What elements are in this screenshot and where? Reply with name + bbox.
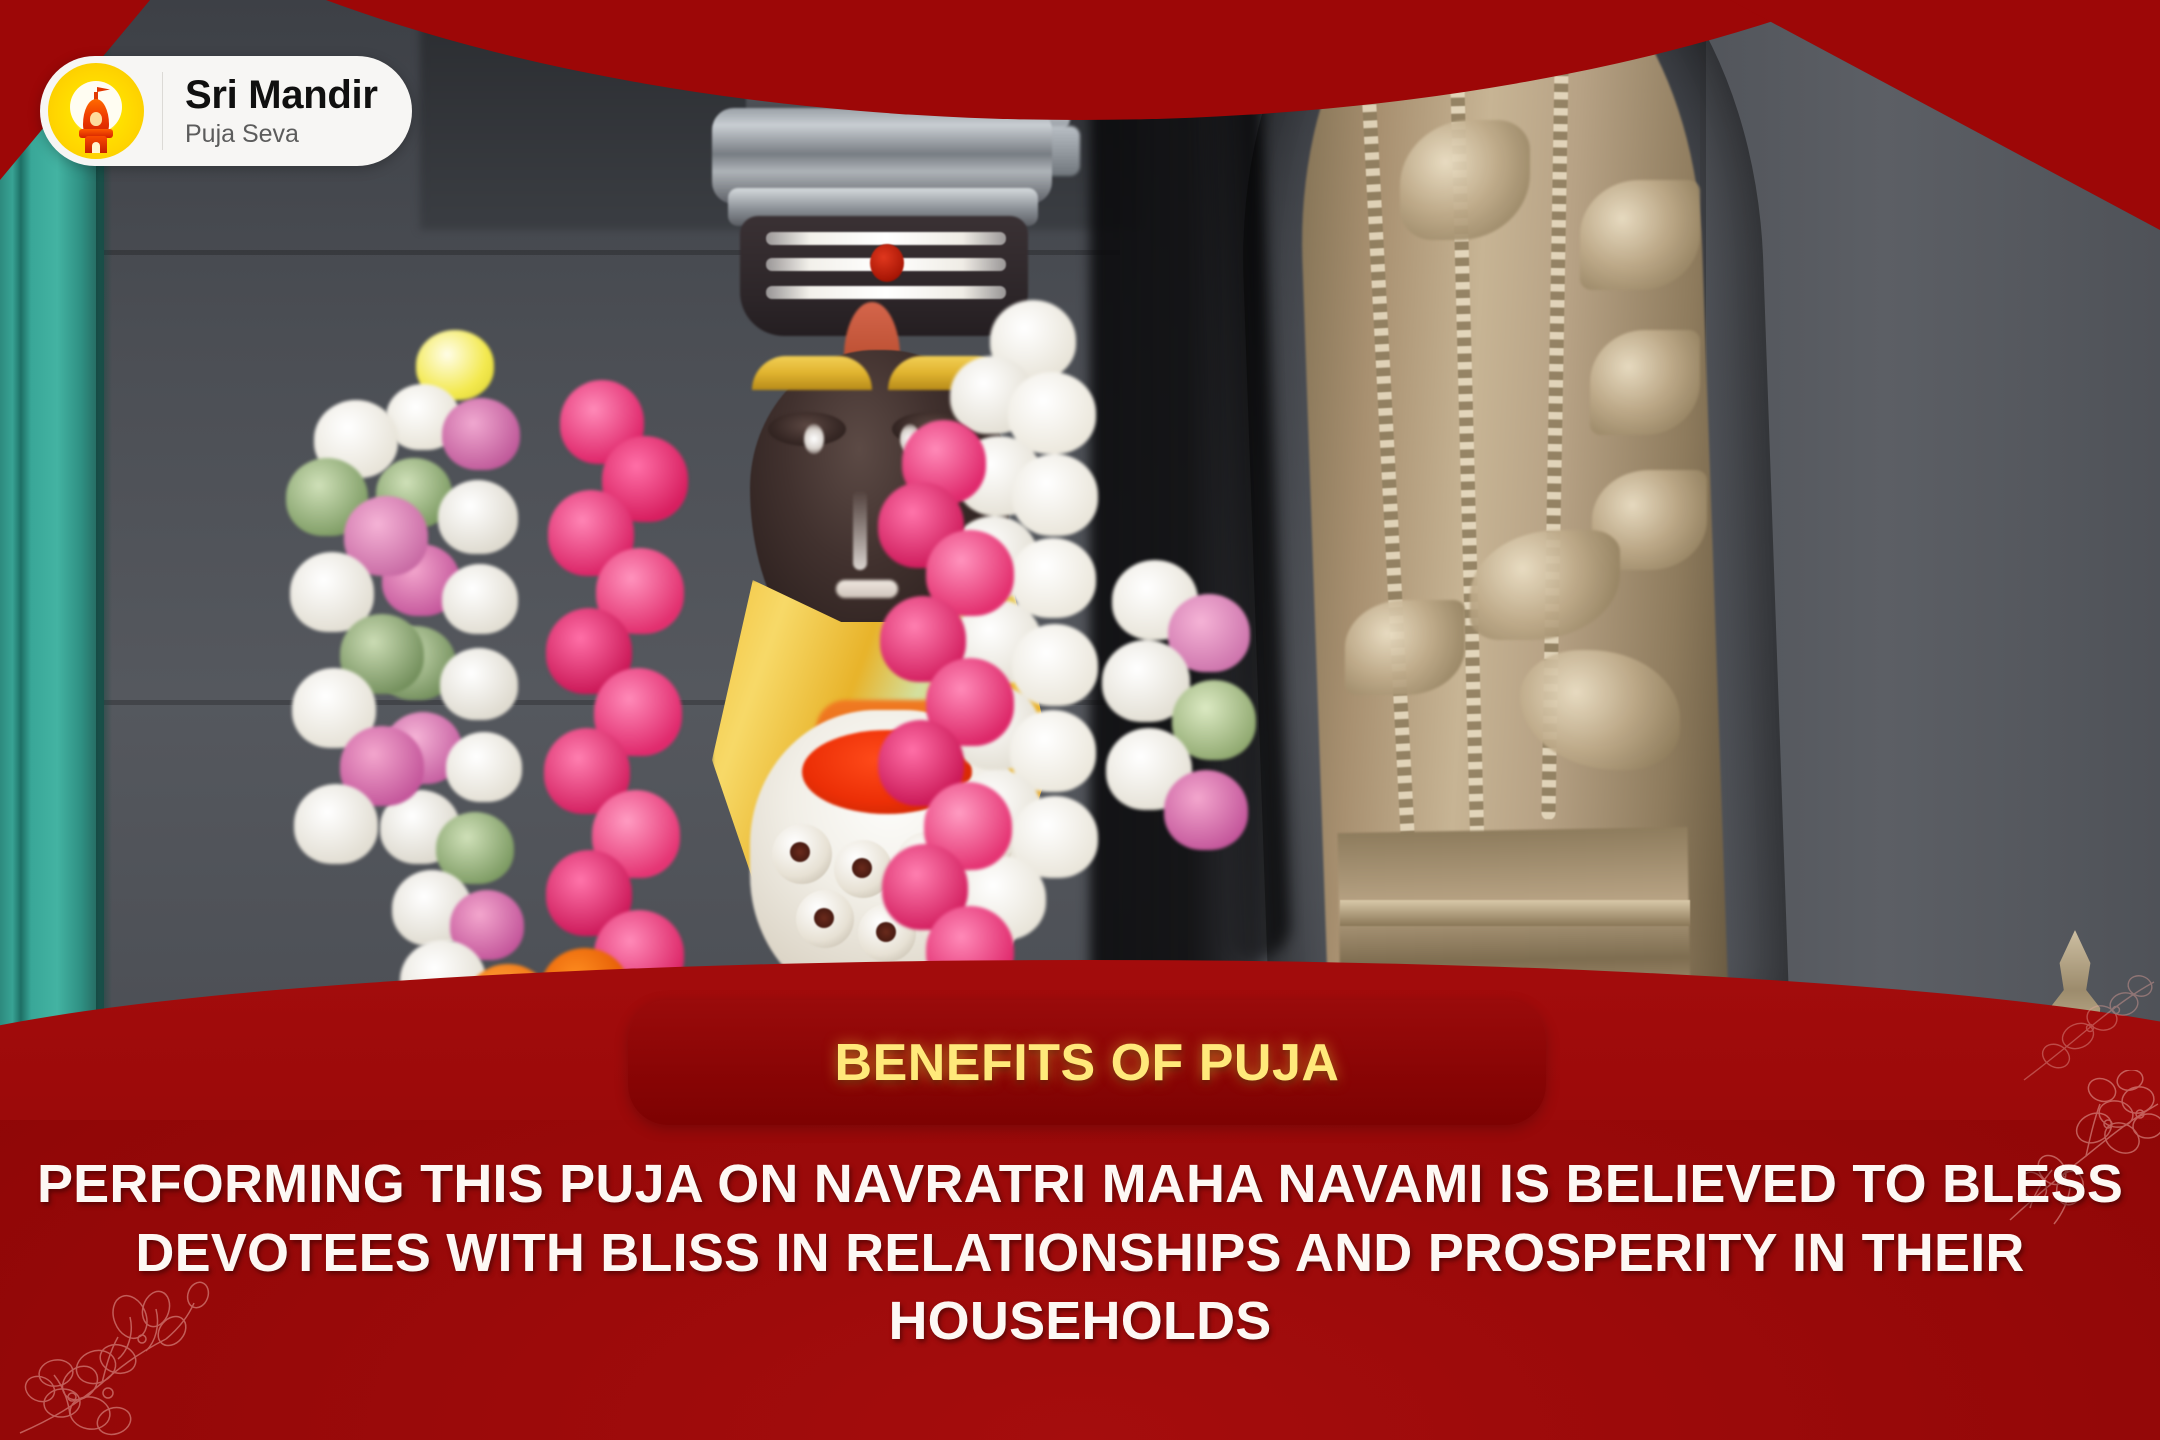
eyebrow-left	[752, 356, 872, 390]
arch-motif	[1580, 180, 1700, 290]
eye-highlight-left	[804, 424, 824, 454]
garland-far-right	[1092, 560, 1292, 880]
brand-name: Sri Mandir	[185, 74, 378, 116]
arch-motif	[1590, 330, 1700, 435]
brand-badge[interactable]: Sri Mandir Puja Seva	[40, 56, 412, 166]
bindi	[870, 244, 904, 282]
rosette-dot	[790, 842, 810, 862]
benefits-banner-title: BENEFITS OF PUJA	[835, 1033, 1340, 1093]
sri-mandir-logo-icon	[48, 63, 144, 159]
arch-base-band	[1340, 900, 1690, 926]
tripundra-tilak	[766, 232, 1006, 306]
teal-pillar	[0, 0, 104, 1120]
puja-promo-poster: Sri Mandir Puja Seva BENEFITS OF PUJA PE…	[0, 0, 2160, 1440]
garland-right-inner	[878, 420, 1048, 1040]
badge-divider	[162, 72, 163, 150]
garland-far-left	[286, 400, 466, 880]
teal-pillar-edge	[96, 0, 112, 1120]
floral-branch-icon	[2020, 960, 2160, 1090]
benefits-description: PERFORMING THIS PUJA ON NAVRATRI MAHA NA…	[0, 1150, 2160, 1356]
arch-motif	[1345, 600, 1465, 695]
rosette-dot	[852, 858, 872, 878]
deity-photo	[0, 0, 2160, 1120]
rosette-dot	[814, 908, 834, 928]
nose	[853, 490, 867, 570]
benefits-banner: BENEFITS OF PUJA	[628, 1000, 1546, 1125]
temple-dome-icon	[79, 85, 113, 153]
brand-tagline: Puja Seva	[185, 119, 378, 149]
